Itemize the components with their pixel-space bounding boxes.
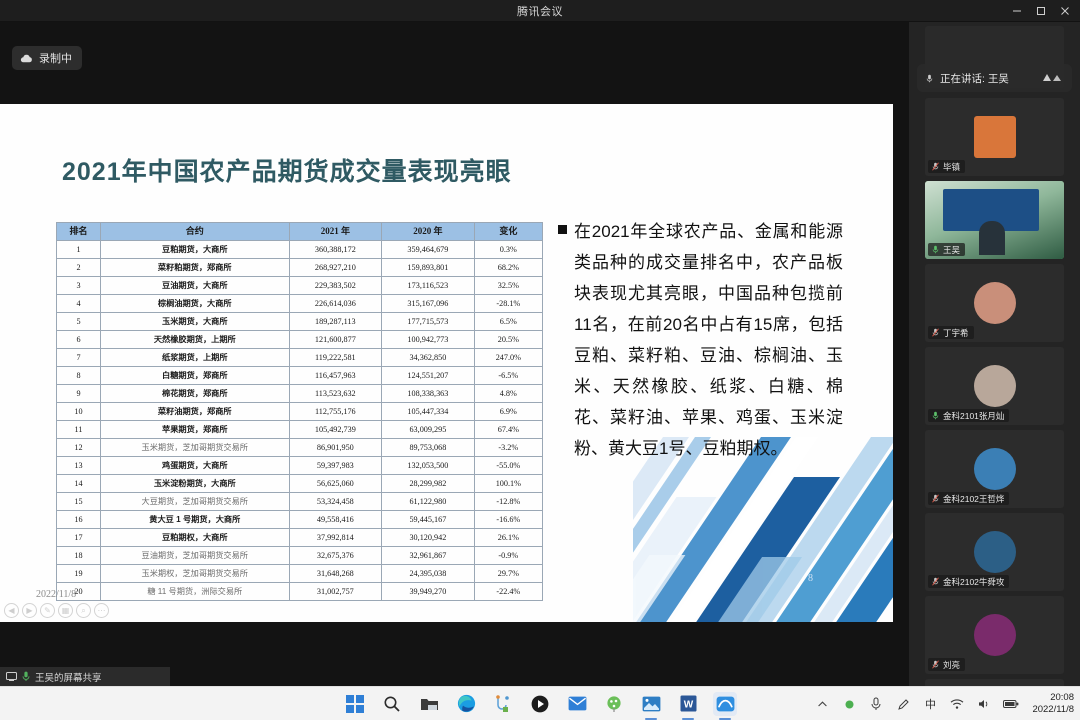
cell-y2020: 105,447,334 [382,403,475,421]
bullet-text: 在2021年全球农产品、金属和能源类品种的成交量排名中，农产品板块表现尤其亮眼，… [558,216,843,464]
cell-change: 20.5% [474,331,542,349]
cell-rank: 1 [57,241,101,259]
cell-contract: 大豆期货，芝加哥期货交易所 [100,493,289,511]
avatar [974,282,1016,324]
cell-y2021: 31,648,268 [289,565,382,583]
cell-rank: 11 [57,421,101,439]
start-icon[interactable] [343,692,367,716]
svg-text:W: W [683,700,693,711]
sound-wave-icon [1042,72,1064,84]
table-row: 6天然橡胶期货，上期所121,600,877100,942,77320.5% [57,331,543,349]
cloud-record-icon [20,53,33,64]
cell-change: -3.2% [474,439,542,457]
cell-y2020: 159,893,801 [382,259,475,277]
speaker-silhouette [979,221,1005,255]
wifi-icon[interactable] [949,696,965,712]
cell-contract: 豆油期货，大商所 [100,277,289,295]
cell-rank: 15 [57,493,101,511]
cell-rank: 12 [57,439,101,457]
cell-change: 247.0% [474,349,542,367]
cell-y2021: 229,383,502 [289,277,382,295]
cell-y2021: 189,287,113 [289,313,382,331]
search-icon[interactable] [380,692,404,716]
participant-tile[interactable]: 金科2101张月灿 [925,347,1064,425]
participant-tile[interactable]: 金科2102王哲烨 [925,430,1064,508]
presentation-slide: 2021年中国农产品期货成交量表现亮眼 排名 合约 2021 年 2020 年 … [0,104,893,622]
cell-contract: 纸浆期货，上期所 [100,349,289,367]
monitor-icon [6,672,17,681]
participant-tile[interactable]: 毕镇 [925,98,1064,176]
participant-tile[interactable]: 王吴 [925,181,1064,259]
recording-label: 录制中 [39,50,72,66]
file-explorer-icon[interactable] [417,692,441,716]
participant-tile[interactable]: 刘亮 [925,596,1064,674]
cell-contract: 玉米期货，芝加哥期货交易所 [100,439,289,457]
cell-y2020: 30,120,942 [382,529,475,547]
cell-y2021: 32,675,376 [289,547,382,565]
cell-contract: 豆粕期权，大商所 [100,529,289,547]
cell-contract: 菜籽粕期货，郑商所 [100,259,289,277]
cell-y2020: 100,942,773 [382,331,475,349]
cell-contract: 天然橡胶期货，上期所 [100,331,289,349]
cell-y2020: 61,122,980 [382,493,475,511]
participant-tile[interactable]: 金科2102姚玟育 [925,679,1064,686]
pen-icon[interactable] [895,696,911,712]
window-titlebar: 腾讯会议 [0,0,1080,22]
table-row: 18豆油期货，芝加哥期货交易所32,675,37632,961,867-0.9% [57,547,543,565]
cell-rank: 4 [57,295,101,313]
clock-time: 20:08 [1032,692,1074,704]
cell-change: -55.0% [474,457,542,475]
table-row: 12玉米期货，芝加哥期货交易所86,901,95089,753,068-3.2% [57,439,543,457]
table-row: 9棉花期货，郑商所113,523,632108,338,3634.8% [57,385,543,403]
cell-y2020: 315,167,096 [382,295,475,313]
cell-rank: 3 [57,277,101,295]
table-row: 11苹果期货，郑商所105,492,73963,009,29567.4% [57,421,543,439]
col-2020: 2020 年 [382,223,475,241]
meeting-window: 录制中 [0,22,1080,686]
ppt-nav-button-2[interactable]: ✎ [40,603,55,618]
cell-change: -22.4% [474,583,542,601]
table-body: 1豆粕期货，大商所360,388,172359,464,6790.3%2菜籽粕期… [57,241,543,601]
cell-change: -6.5% [474,367,542,385]
participant-name: 金科2102牛舜攻 [943,576,1004,588]
cell-y2021: 59,397,983 [289,457,382,475]
cell-rank: 2 [57,259,101,277]
cell-change: 4.8% [474,385,542,403]
cell-y2021: 53,324,458 [289,493,382,511]
table-row: 19玉米期权，芝加哥期货交易所31,648,26824,395,03829.7% [57,565,543,583]
taskbar-icon-group: W [343,692,737,716]
active-speaker-banner: 正在讲话: 王吴 [917,64,1072,92]
decorative-stripes [633,437,893,622]
battery-icon[interactable] [1003,696,1019,712]
microphone-icon [931,245,940,254]
cell-contract: 玉米期权，芝加哥期货交易所 [100,565,289,583]
avatar [974,614,1016,656]
tencent-meeting-icon[interactable] [713,692,737,716]
participant-namebar: 金科2102牛舜攻 [928,575,1009,588]
clock-date: 2022/11/8 [1032,704,1074,716]
cell-change: 67.4% [474,421,542,439]
participant-name: 金科2102王哲烨 [943,493,1004,505]
col-rank: 排名 [57,223,101,241]
widgets-icon[interactable] [491,692,515,716]
cell-y2020: 108,338,363 [382,385,475,403]
cell-y2020: 124,551,207 [382,367,475,385]
screen-share-label: 王吴的屏幕共享 [35,670,102,684]
cell-y2021: 56,625,060 [289,475,382,493]
cell-y2020: 32,961,867 [382,547,475,565]
participant-name: 金科2101张月灿 [943,410,1004,422]
cell-y2021: 37,992,814 [289,529,382,547]
maximize-button[interactable] [1030,1,1052,21]
microphone-muted-icon [931,577,940,586]
table-row: 8白糖期货，郑商所116,457,963124,551,207-6.5% [57,367,543,385]
cell-rank: 10 [57,403,101,421]
participant-name: 毕镇 [943,161,960,173]
table-row: 3豆油期货，大商所229,383,502173,116,52332.5% [57,277,543,295]
table-row: 4棕榈油期货，大商所226,614,036315,167,096-28.1% [57,295,543,313]
cell-y2020: 34,362,850 [382,349,475,367]
participant-name: 王吴 [943,244,960,256]
close-button[interactable] [1054,1,1076,21]
cell-y2021: 119,222,581 [289,349,382,367]
microphone-muted-icon [931,494,940,503]
cell-y2020: 59,445,167 [382,511,475,529]
participant-tiles: 毕镇王吴丁宇希金科2101张月灿金科2102王哲烨金科2102牛舜攻刘亮金科21… [909,94,1080,686]
table-row: 7纸浆期货，上期所119,222,58134,362,850247.0% [57,349,543,367]
cell-rank: 9 [57,385,101,403]
cell-contract: 糖 11 号期货，洲际交易所 [100,583,289,601]
ppt-nav-button-3[interactable]: ▦ [58,603,73,618]
table-row: 15大豆期货，芝加哥期货交易所53,324,45861,122,980-12.8… [57,493,543,511]
cell-y2021: 360,388,172 [289,241,382,259]
cell-contract: 玉米淀粉期货，大商所 [100,475,289,493]
cell-y2020: 24,395,038 [382,565,475,583]
participant-namebar: 金科2102王哲烨 [928,492,1009,505]
cell-y2021: 86,901,950 [289,439,382,457]
active-speaker-label: 正在讲话: 王吴 [940,71,1009,86]
cell-change: -12.8% [474,493,542,511]
cell-change: 100.1% [474,475,542,493]
microphone-muted-icon [931,328,940,337]
cell-rank: 5 [57,313,101,331]
cell-y2020: 89,753,068 [382,439,475,457]
cell-y2020: 28,299,982 [382,475,475,493]
cell-contract: 苹果期货，郑商所 [100,421,289,439]
ime-icon[interactable]: 中 [922,696,938,712]
microphone-muted-icon [931,660,940,669]
status-dot-icon[interactable] [841,696,857,712]
slide-date: 2022/11/8 [36,589,76,600]
participant-name: 丁宇希 [943,327,969,339]
table-row: 5玉米期货，大商所189,287,113177,715,5736.5% [57,313,543,331]
col-change: 变化 [474,223,542,241]
cell-contract: 菜籽油期货，郑商所 [100,403,289,421]
volume-icon[interactable] [976,696,992,712]
screen-share-bar: 王吴的屏幕共享 [0,667,170,686]
cell-y2021: 49,558,416 [289,511,382,529]
paint-icon[interactable] [602,692,626,716]
participant-namebar: 丁宇希 [928,326,974,339]
participant-tile[interactable]: 丁宇希 [925,264,1064,342]
cell-rank: 19 [57,565,101,583]
cell-y2021: 105,492,739 [289,421,382,439]
cell-change: 6.5% [474,313,542,331]
presentation-nav-controls[interactable]: ◀▶✎▦⌕⋯ [4,603,109,618]
participant-namebar: 刘亮 [928,658,965,671]
cell-contract: 白糖期货，郑商所 [100,367,289,385]
avatar [974,365,1016,407]
cell-change: 29.7% [474,565,542,583]
window-title: 腾讯会议 [517,3,563,19]
cell-y2021: 31,002,757 [289,583,382,601]
ppt-nav-button-1[interactable]: ▶ [22,603,37,618]
avatar [974,448,1016,490]
windows-taskbar: W [0,686,1080,720]
participant-namebar: 金科2101张月灿 [928,409,1009,422]
cell-contract: 黄大豆 1 号期货，大商所 [100,511,289,529]
shared-screen-stage[interactable]: 录制中 [0,22,909,686]
cell-y2020: 359,464,679 [382,241,475,259]
cell-y2021: 121,600,877 [289,331,382,349]
participant-namebar: 王吴 [928,243,965,256]
table-row: 2菜籽粕期货，郑商所268,927,210159,893,80168.2% [57,259,543,277]
futures-volume-table: 排名 合约 2021 年 2020 年 变化 1豆粕期货，大商所360,388,… [56,222,543,601]
bullet-square-icon [558,225,567,234]
cell-change: 6.9% [474,403,542,421]
participants-rail[interactable]: 毕镇王吴丁宇希金科2101张月灿金科2102王哲烨金科2102牛舜攻刘亮金科21… [909,22,1080,686]
mail-icon[interactable] [565,692,589,716]
chevron-up-icon[interactable] [814,696,830,712]
taskbar-clock[interactable]: 20:08 2022/11/8 [1032,692,1074,716]
avatar [974,116,1016,158]
cell-contract: 豆油期货，芝加哥期货交易所 [100,547,289,565]
table-row: 20糖 11 号期货，洲际交易所31,002,75739,949,270-22.… [57,583,543,601]
word-icon[interactable]: W [676,692,700,716]
participant-tile[interactable]: 金科2102牛舜攻 [925,513,1064,591]
table-row: 10菜籽油期货，郑商所112,755,176105,447,3346.9% [57,403,543,421]
avatar [974,531,1016,573]
microphone-muted-icon [931,162,940,171]
ppt-nav-button-5[interactable]: ⋯ [94,603,109,618]
microphone-icon [925,74,934,83]
cell-rank: 17 [57,529,101,547]
slide-bullet-paragraph: 在2021年全球农产品、金属和能源类品种的成交量排名中，农产品板块表现尤其亮眼，… [558,216,843,464]
screen: 腾讯会议 录制中 [0,0,1080,720]
cell-y2021: 113,523,632 [289,385,382,403]
cell-y2020: 63,009,295 [382,421,475,439]
cell-y2020: 173,116,523 [382,277,475,295]
table-row: 17豆粕期权，大商所37,992,81430,120,94226.1% [57,529,543,547]
cell-contract: 棕榈油期货，大商所 [100,295,289,313]
participant-namebar: 毕镇 [928,160,965,173]
col-contract: 合约 [100,223,289,241]
photos-icon[interactable] [639,692,663,716]
cell-change: 68.2% [474,259,542,277]
cell-contract: 豆粕期货，大商所 [100,241,289,259]
table-row: 1豆粕期货，大商所360,388,172359,464,6790.3% [57,241,543,259]
slide-title: 2021年中国农产品期货成交量表现亮眼 [62,152,512,188]
cell-change: 32.5% [474,277,542,295]
cell-rank: 18 [57,547,101,565]
cell-rank: 7 [57,349,101,367]
cell-rank: 8 [57,367,101,385]
cell-change: 26.1% [474,529,542,547]
ppt-nav-button-4[interactable]: ⌕ [76,603,91,618]
microphone-icon [22,671,30,682]
col-2021: 2021 年 [289,223,382,241]
cell-y2021: 112,755,176 [289,403,382,421]
cell-rank: 13 [57,457,101,475]
cell-y2021: 268,927,210 [289,259,382,277]
table-row: 14玉米淀粉期货，大商所56,625,06028,299,982100.1% [57,475,543,493]
table-row: 13鸡蛋期货，大商所59,397,983132,053,500-55.0% [57,457,543,475]
edge-icon[interactable] [454,692,478,716]
cell-change: -16.6% [474,511,542,529]
cell-y2020: 132,053,500 [382,457,475,475]
cell-contract: 棉花期货，郑商所 [100,385,289,403]
cell-rank: 14 [57,475,101,493]
cell-change: 0.3% [474,241,542,259]
media-player-icon[interactable] [528,692,552,716]
cell-y2021: 226,614,036 [289,295,382,313]
cell-y2020: 39,949,270 [382,583,475,601]
cell-change: -0.9% [474,547,542,565]
window-controls [1006,0,1076,22]
slide-page-number: 8 [808,573,813,584]
cell-change: -28.1% [474,295,542,313]
minimize-button[interactable] [1006,1,1028,21]
cell-y2020: 177,715,573 [382,313,475,331]
table-row: 16黄大豆 1 号期货，大商所49,558,41659,445,167-16.6… [57,511,543,529]
cell-rank: 16 [57,511,101,529]
ppt-nav-button-0[interactable]: ◀ [4,603,19,618]
recording-badge: 录制中 [12,46,82,70]
microphone-icon [931,411,940,420]
system-tray: 中 [814,687,1074,720]
microphone-icon[interactable] [868,696,884,712]
cell-contract: 玉米期货，大商所 [100,313,289,331]
table-header-row: 排名 合约 2021 年 2020 年 变化 [57,223,543,241]
cell-contract: 鸡蛋期货，大商所 [100,457,289,475]
participant-name: 刘亮 [943,659,960,671]
cell-rank: 6 [57,331,101,349]
cell-y2021: 116,457,963 [289,367,382,385]
